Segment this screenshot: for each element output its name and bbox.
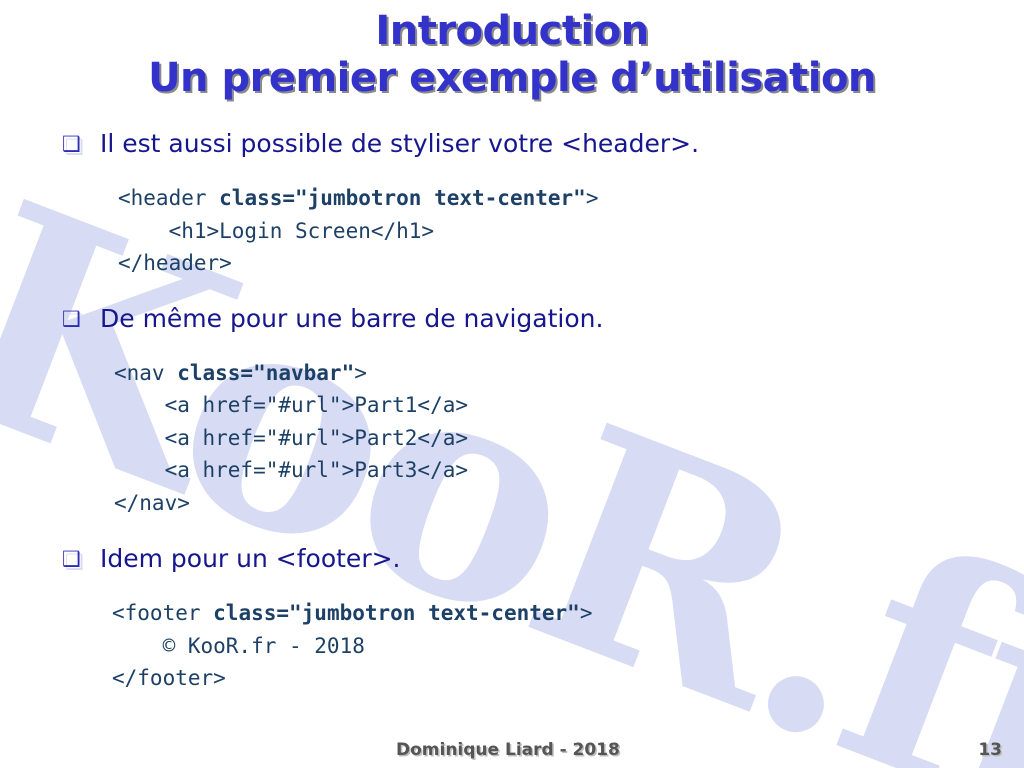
square-bullet-icon: ❑ (62, 545, 81, 573)
bullet-item-footer: ❑ Idem pour un <footer>. (0, 543, 1024, 577)
content-block-footer: ❑ Idem pour un <footer>. <footer class="… (0, 543, 1024, 695)
square-bullet-icon: ❑ (62, 305, 81, 333)
code-line: <a href="#url">Part2</a> (114, 426, 468, 450)
bullet-item-nav: ❑ De même pour une barre de navigation. (0, 303, 1024, 337)
code-line: </footer> (112, 666, 226, 690)
code-line: </nav> (114, 491, 190, 515)
code-line-bold: class="jumbotron text-center" (213, 601, 580, 625)
slide-footer: Dominique Liard - 2018 13 (0, 738, 1024, 764)
footer-page-number: 13 (978, 738, 1002, 762)
title-line-2: Un premier exemple d’utilisation (0, 55, 1024, 102)
code-block-header: <header class="jumbotron text-center"> <… (0, 182, 1024, 280)
code-line-bold: class="jumbotron text-center" (219, 186, 586, 210)
code-line: </header> (118, 251, 232, 275)
content-block-nav: ❑ De même pour une barre de navigation. … (0, 303, 1024, 520)
content-block-header: ❑ Il est aussi possible de styliser votr… (0, 128, 1024, 280)
code-line: > (586, 186, 599, 210)
code-line-bold: class="navbar" (177, 361, 354, 385)
code-line: <footer (112, 601, 213, 625)
footer-author: Dominique Liard - 2018 (396, 738, 620, 762)
slide-canvas: KooR.fr Introduction Un premier exemple … (0, 0, 1024, 768)
code-block-nav: <nav class="navbar"> <a href="#url">Part… (0, 357, 1024, 520)
code-line: > (580, 601, 593, 625)
page-title: Introduction Un premier exemple d’utilis… (0, 8, 1024, 102)
slide-content: ❑ Il est aussi possible de styliser votr… (0, 128, 1024, 695)
code-line: <a href="#url">Part3</a> (114, 458, 468, 482)
bullet-item-header: ❑ Il est aussi possible de styliser votr… (0, 128, 1024, 162)
code-line: © KooR.fr - 2018 (112, 634, 365, 658)
code-line: <nav (114, 361, 177, 385)
code-block-footer: <footer class="jumbotron text-center"> ©… (0, 597, 1024, 695)
code-line: <h1>Login Screen</h1> (118, 219, 434, 243)
square-bullet-icon: ❑ (62, 130, 81, 158)
title-line-1: Introduction (0, 8, 1024, 55)
bullet-label-nav: De même pour une barre de navigation. (100, 304, 603, 333)
code-line: <header (118, 186, 219, 210)
code-line: <a href="#url">Part1</a> (114, 393, 468, 417)
code-line: > (354, 361, 367, 385)
bullet-label-header: Il est aussi possible de styliser votre … (100, 129, 699, 158)
bullet-label-footer: Idem pour un <footer>. (100, 544, 401, 573)
